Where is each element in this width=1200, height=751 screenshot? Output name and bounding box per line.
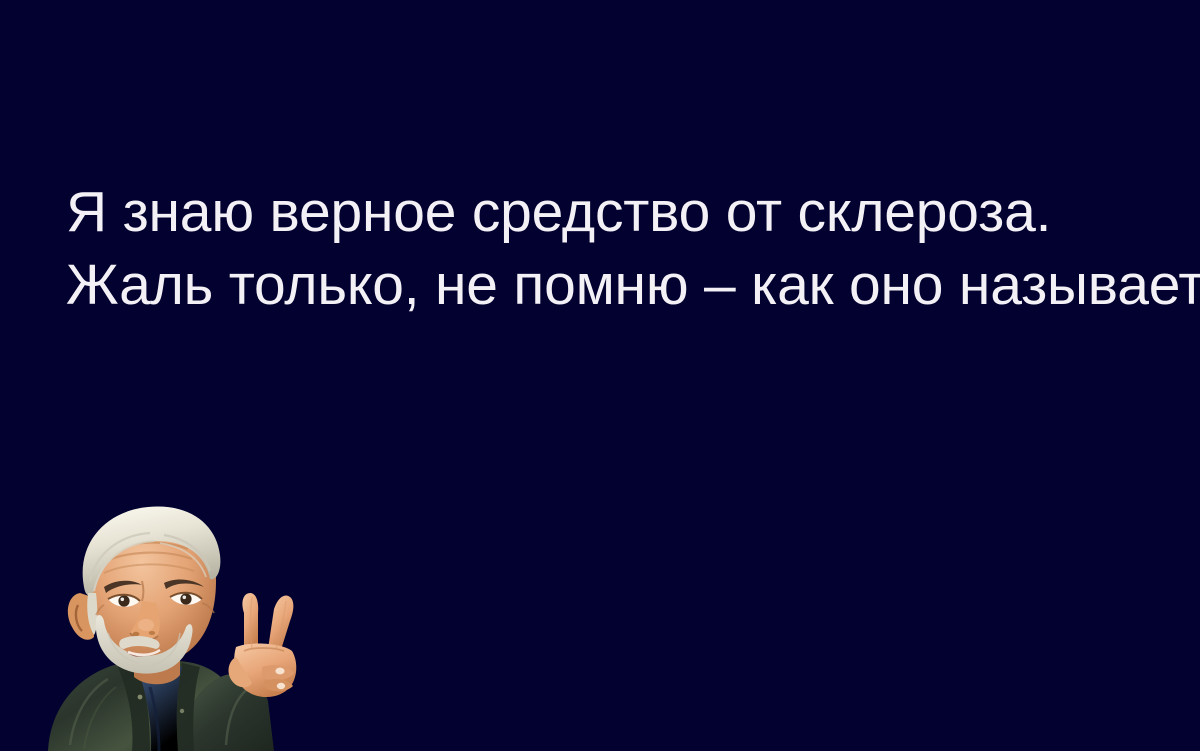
quote-line-1: Я знаю верное средство от склероза. xyxy=(66,176,1176,249)
quote-text-block: Я знаю верное средство от склероза. Жаль… xyxy=(66,176,1176,322)
caricature-illustration xyxy=(30,501,360,751)
victory-hand-shape xyxy=(229,593,297,697)
quote-card: Я знаю верное средство от склероза. Жаль… xyxy=(0,0,1200,751)
quote-line-2: Жаль только, не помню – как оно называет… xyxy=(66,249,1176,322)
